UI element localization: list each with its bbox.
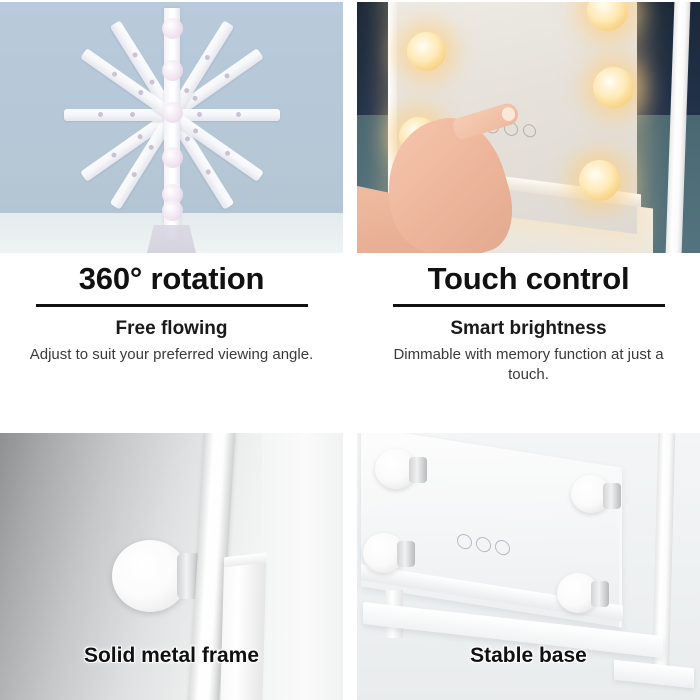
feature-text-rotation: 360° rotation Free flowing Adjust to sui… bbox=[0, 262, 343, 365]
feature-text-touch: Touch control Smart brightness Dimmable … bbox=[357, 262, 700, 385]
feature-description: Dimmable with memory function at just a … bbox=[357, 345, 700, 386]
led-bulb-icon bbox=[162, 102, 183, 123]
color-temperature-touch-button[interactable] bbox=[523, 123, 536, 138]
mirror-stand-arm bbox=[220, 560, 266, 700]
led-bulb-icon bbox=[557, 573, 599, 613]
led-bulb-icon bbox=[112, 540, 188, 612]
feature-description: Adjust to suit your preferred viewing an… bbox=[0, 345, 343, 365]
feature-image-touch bbox=[357, 2, 700, 253]
led-bulb-icon bbox=[162, 18, 183, 39]
title-underline-rule bbox=[36, 304, 308, 307]
led-bulb-icon bbox=[593, 67, 634, 108]
feature-image-base: Stable base bbox=[357, 433, 700, 700]
led-bulb-icon bbox=[571, 475, 611, 513]
feature-subtitle: Free flowing bbox=[0, 318, 343, 340]
led-bulb-icon bbox=[162, 200, 183, 221]
feature-subtitle: Smart brightness bbox=[357, 318, 700, 340]
feature-caption: Solid metal frame bbox=[0, 644, 343, 668]
feature-image-frame: Solid metal frame bbox=[0, 433, 343, 700]
feature-title: Touch control bbox=[357, 262, 700, 296]
led-bulb-icon bbox=[375, 449, 417, 489]
feature-image-rotation bbox=[0, 2, 343, 253]
led-bulb-icon bbox=[162, 147, 183, 168]
feature-caption: Stable base bbox=[357, 644, 700, 668]
title-underline-rule bbox=[393, 304, 665, 307]
feature-title: 360° rotation bbox=[0, 262, 343, 296]
led-bulb-icon bbox=[363, 533, 405, 573]
mirror-base bbox=[146, 225, 198, 253]
led-bulb-icon bbox=[162, 60, 183, 81]
feature-grid-sheet: 360° rotation Free flowing Adjust to sui… bbox=[0, 0, 700, 700]
led-bulb-icon bbox=[579, 160, 620, 201]
led-bulb-icon bbox=[407, 32, 446, 71]
